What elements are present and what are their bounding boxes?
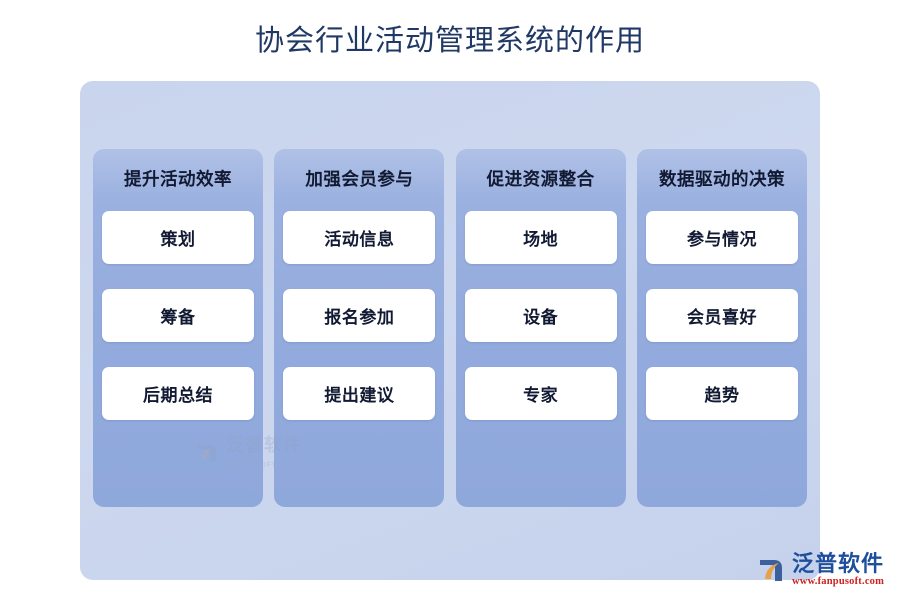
card-stack: 场地 设备 专家 xyxy=(456,211,626,420)
card-label: 专家 xyxy=(523,381,558,406)
diagram-column-2[interactable]: 加强会员参与 活动信息 报名参加 提出建议 xyxy=(274,149,444,507)
card-item[interactable]: 会员喜好 xyxy=(646,289,798,342)
column-header: 提升活动效率 xyxy=(124,170,232,189)
card-label: 会员喜好 xyxy=(687,303,757,328)
card-item[interactable]: 场地 xyxy=(465,211,617,264)
card-item[interactable]: 参与情况 xyxy=(646,211,798,264)
logo-text-group: 泛普软件 www.fanpusoft.com xyxy=(792,553,884,588)
logo-brand-name: 泛普软件 xyxy=(792,553,884,575)
fanpu-swoosh-icon xyxy=(758,555,788,585)
card-stack: 参与情况 会员喜好 趋势 xyxy=(637,211,807,420)
diagram-column-1[interactable]: 提升活动效率 策划 筹备 后期总结 xyxy=(93,149,263,507)
card-item[interactable]: 提出建议 xyxy=(283,367,435,420)
diagram-panel: 提升活动效率 策划 筹备 后期总结 加强会员参与 xyxy=(80,81,820,580)
card-label: 报名参加 xyxy=(324,303,394,328)
card-label: 后期总结 xyxy=(143,381,213,406)
diagram-column-3[interactable]: 促进资源整合 场地 设备 专家 xyxy=(456,149,626,507)
card-item[interactable]: 设备 xyxy=(465,289,617,342)
column-header: 数据驱动的决策 xyxy=(659,170,785,189)
card-label: 趋势 xyxy=(704,381,739,406)
card-label: 筹备 xyxy=(161,303,196,328)
column-group: 提升活动效率 策划 筹备 后期总结 加强会员参与 xyxy=(93,149,807,507)
slide-canvas: 协会行业活动管理系统的作用 提升活动效率 策划 筹备 后期总结 xyxy=(0,0,900,600)
card-item[interactable]: 活动信息 xyxy=(283,211,435,264)
card-stack: 活动信息 报名参加 提出建议 xyxy=(274,211,444,420)
column-header: 促进资源整合 xyxy=(487,170,595,189)
brand-logo[interactable]: 泛普软件 www.fanpusoft.com xyxy=(758,546,896,594)
card-label: 策划 xyxy=(161,225,196,250)
card-label: 提出建议 xyxy=(324,381,394,406)
card-label: 场地 xyxy=(523,225,558,250)
card-item[interactable]: 后期总结 xyxy=(102,367,254,420)
page-title: 协会行业活动管理系统的作用 xyxy=(0,17,900,59)
card-item[interactable]: 筹备 xyxy=(102,289,254,342)
card-label: 参与情况 xyxy=(687,225,757,250)
card-label: 活动信息 xyxy=(324,225,394,250)
card-item[interactable]: 策划 xyxy=(102,211,254,264)
card-item[interactable]: 报名参加 xyxy=(283,289,435,342)
diagram-column-4[interactable]: 数据驱动的决策 参与情况 会员喜好 趋势 xyxy=(637,149,807,507)
card-stack: 策划 筹备 后期总结 xyxy=(93,211,263,420)
logo-website-url: www.fanpusoft.com xyxy=(792,577,884,588)
card-label: 设备 xyxy=(523,303,558,328)
card-item[interactable]: 专家 xyxy=(465,367,617,420)
column-header: 加强会员参与 xyxy=(305,170,413,189)
card-item[interactable]: 趋势 xyxy=(646,367,798,420)
